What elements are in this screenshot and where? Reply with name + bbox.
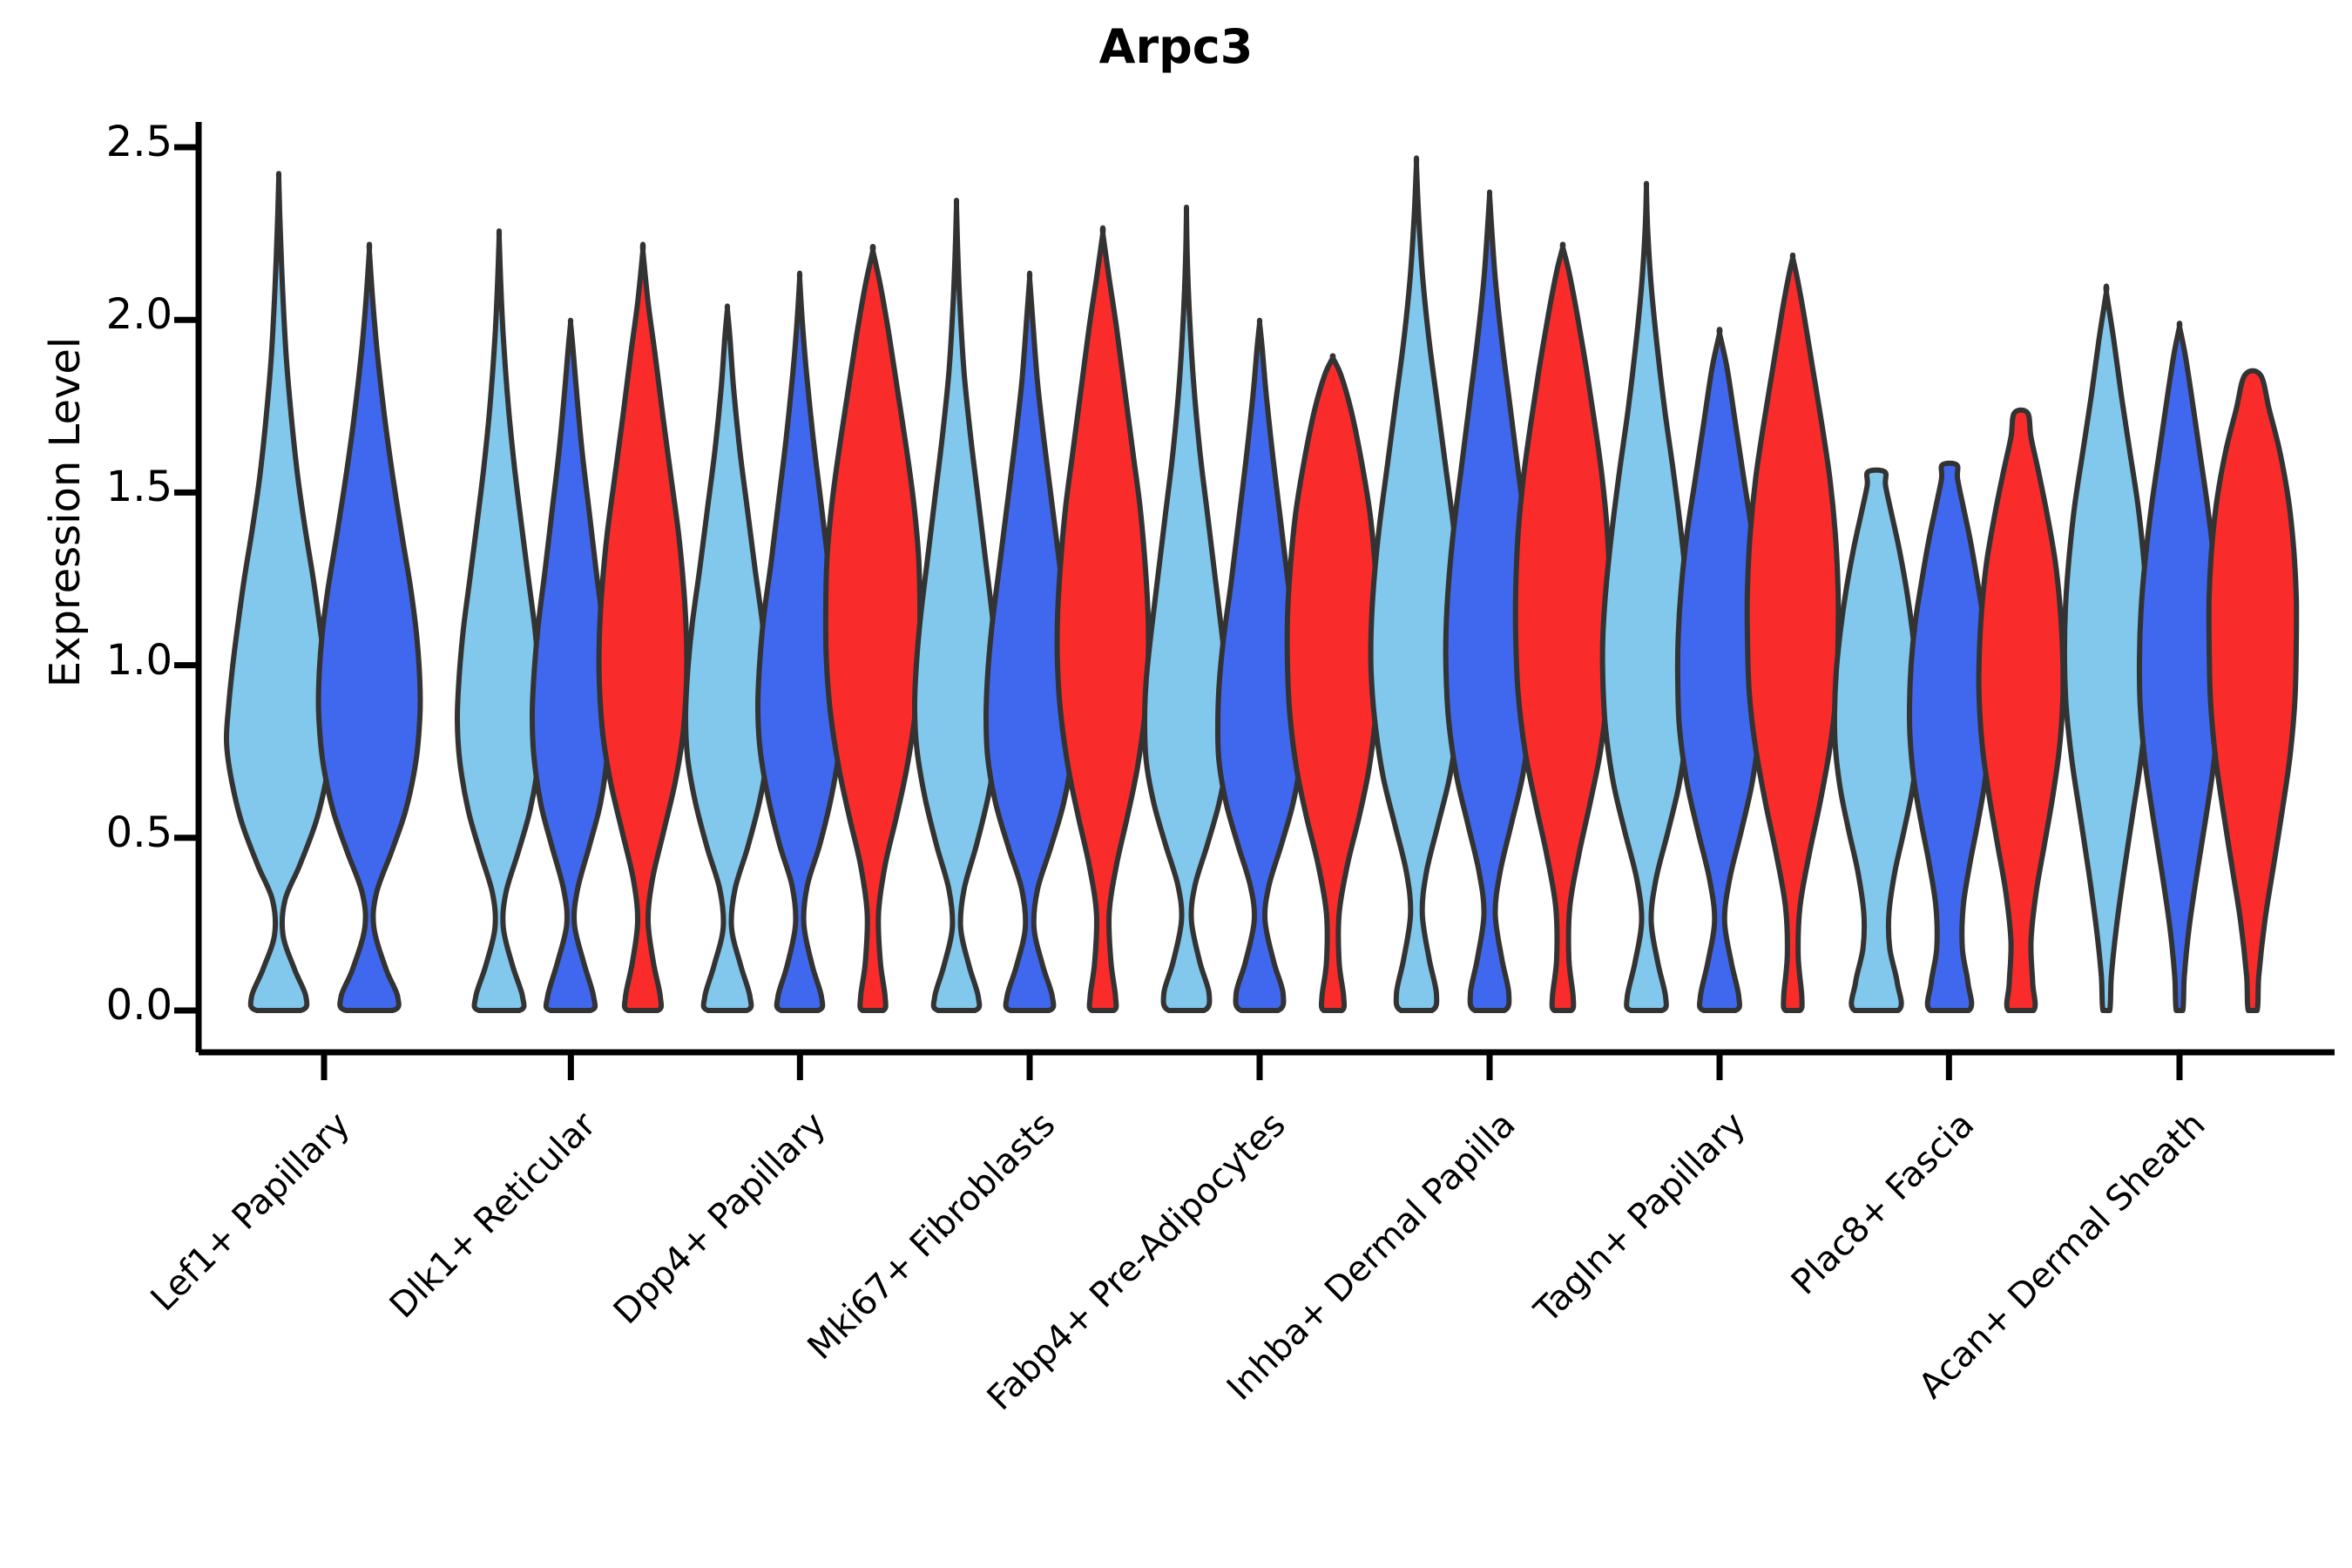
violin-shape[interactable] — [1516, 244, 1611, 1010]
violin-shape[interactable] — [1835, 470, 1918, 1010]
x-tick-marks — [324, 1052, 2180, 1080]
violin-shape[interactable] — [1979, 410, 2064, 1010]
violin-shape[interactable] — [318, 244, 420, 1010]
violin-shape[interactable] — [1747, 255, 1839, 1010]
violin-shape[interactable] — [915, 200, 998, 1010]
violin-shape[interactable] — [1603, 184, 1691, 1010]
violin-shape[interactable] — [599, 244, 687, 1010]
violin-shape[interactable] — [1288, 355, 1379, 1010]
violin-shape[interactable] — [1058, 228, 1149, 1010]
violin-shape[interactable] — [686, 306, 769, 1010]
violin-shape[interactable] — [1145, 207, 1228, 1010]
y-tick-marks — [174, 147, 199, 1010]
violin-shape[interactable] — [2065, 287, 2148, 1010]
violins-group — [226, 158, 2296, 1010]
violin-shape[interactable] — [826, 247, 920, 1010]
violin-plot-figure: Arpc3 Expression Level 0.00.51.01.52.02.… — [0, 0, 2352, 1568]
violin-shape[interactable] — [2209, 371, 2297, 1010]
violin-shape[interactable] — [226, 173, 331, 1010]
violin-shape[interactable] — [1909, 463, 1990, 1010]
violin-shape[interactable] — [457, 231, 541, 1010]
